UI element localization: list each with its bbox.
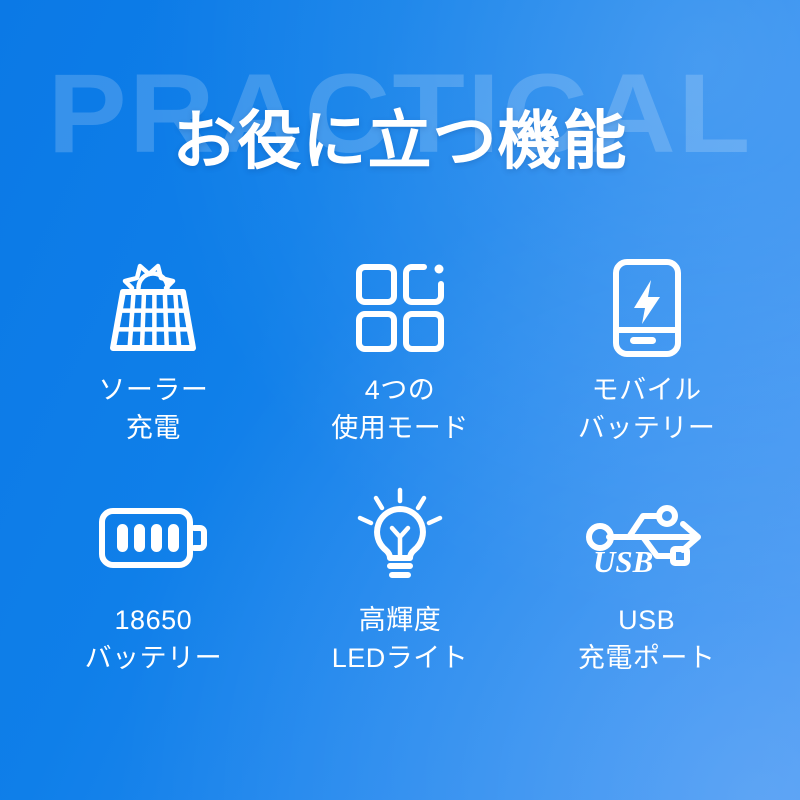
page-title: お役に立つ機能 (0, 108, 800, 175)
caption-line-2: 充電 (98, 409, 208, 447)
power-bank-icon (611, 253, 683, 363)
caption-line-2: バッテリー (578, 409, 716, 447)
caption-line-2: 充電ポート (578, 639, 716, 677)
feature-caption-solar: ソーラー 充電 (98, 371, 208, 448)
feature-caption-battery: 18650 バッテリー (85, 601, 223, 678)
battery-icon (98, 483, 208, 593)
feature-caption-led: 高輝度 LEDライト (332, 601, 469, 678)
feature-item-powerbank: モバイル バッテリー (523, 245, 770, 475)
caption-line-2: バッテリー (85, 639, 223, 677)
feature-item-led: 高輝度 LEDライト (277, 475, 524, 705)
feature-item-battery: 18650 バッテリー (30, 475, 277, 705)
caption-line-1: 高輝度 (359, 605, 442, 635)
feature-caption-powerbank: モバイル バッテリー (578, 371, 716, 448)
caption-line-1: 4つの (365, 375, 436, 405)
feature-grid: ソーラー 充電 4つの 使用モード (30, 245, 770, 705)
caption-line-1: モバイル (592, 375, 702, 405)
caption-line-1: 18650 (115, 605, 193, 635)
usb-icon: USB (585, 483, 709, 593)
feature-item-usb: USB USB 充電ポート (523, 475, 770, 705)
caption-line-2: 使用モード (331, 409, 469, 447)
feature-caption-usb: USB 充電ポート (578, 601, 716, 678)
feature-caption-modes: 4つの 使用モード (331, 371, 469, 448)
light-bulb-icon (356, 483, 444, 593)
caption-line-1: ソーラー (98, 375, 208, 405)
four-modes-grid-icon (354, 253, 446, 363)
usb-glyph-label: USB (593, 544, 653, 579)
solar-panel-icon (101, 253, 205, 363)
feature-item-modes: 4つの 使用モード (277, 245, 524, 475)
feature-item-solar: ソーラー 充電 (30, 245, 277, 475)
caption-line-2: LEDライト (332, 639, 469, 677)
caption-line-1: USB (618, 605, 675, 635)
